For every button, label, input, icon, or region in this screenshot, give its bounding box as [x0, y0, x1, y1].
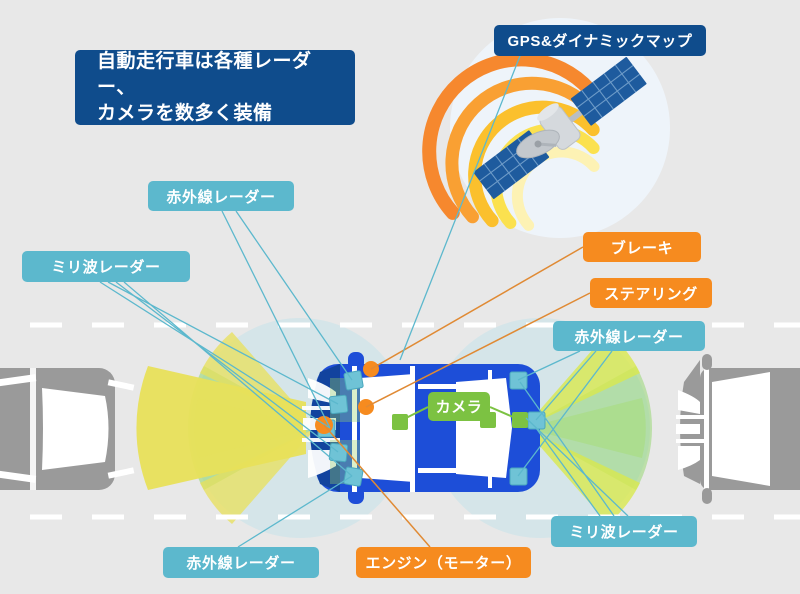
callout-camera: カメラ: [428, 392, 490, 421]
other-car-rear-icon: [0, 368, 134, 490]
infographic-canvas: 自動走行車は各種レーダー、 カメラを数多く装備 GPS&ダイナミックマップ赤外線…: [0, 0, 800, 594]
callout-gps-text: GPS&ダイナミックマップ: [507, 30, 692, 51]
callout-ir-top-left-text: 赤外線レーダー: [166, 186, 275, 207]
callout-ir-top-left: 赤外線レーダー: [148, 181, 294, 211]
headline-line-1: 自動走行車は各種レーダー、: [97, 49, 333, 101]
callout-mmwave-left-text: ミリ波レーダー: [51, 256, 160, 277]
callout-ir-right-text: 赤外線レーダー: [574, 326, 683, 347]
callout-mmwave-right-text: ミリ波レーダー: [569, 521, 678, 542]
callout-gps: GPS&ダイナミックマップ: [494, 25, 706, 56]
autonomous-car-icon: [302, 352, 545, 504]
callout-mmwave-right: ミリ波レーダー: [551, 516, 697, 547]
callout-ir-right: 赤外線レーダー: [553, 321, 705, 351]
callout-ir-bottom-left-text: 赤外線レーダー: [186, 552, 295, 573]
callout-brake: ブレーキ: [583, 232, 701, 262]
callout-mmwave-left: ミリ波レーダー: [22, 251, 190, 282]
headline-box: 自動走行車は各種レーダー、 カメラを数多く装備: [75, 50, 355, 125]
headline-line-2: カメラを数多く装備: [97, 101, 333, 127]
callout-engine-text: エンジン（モーター）: [365, 552, 521, 573]
callout-steering-text: ステアリング: [604, 283, 698, 304]
callout-camera-text: カメラ: [436, 396, 483, 417]
callout-steering: ステアリング: [590, 278, 712, 308]
callout-ir-bottom-left: 赤外線レーダー: [163, 547, 319, 578]
callout-engine: エンジン（モーター）: [356, 547, 531, 578]
callout-brake-text: ブレーキ: [611, 237, 673, 258]
